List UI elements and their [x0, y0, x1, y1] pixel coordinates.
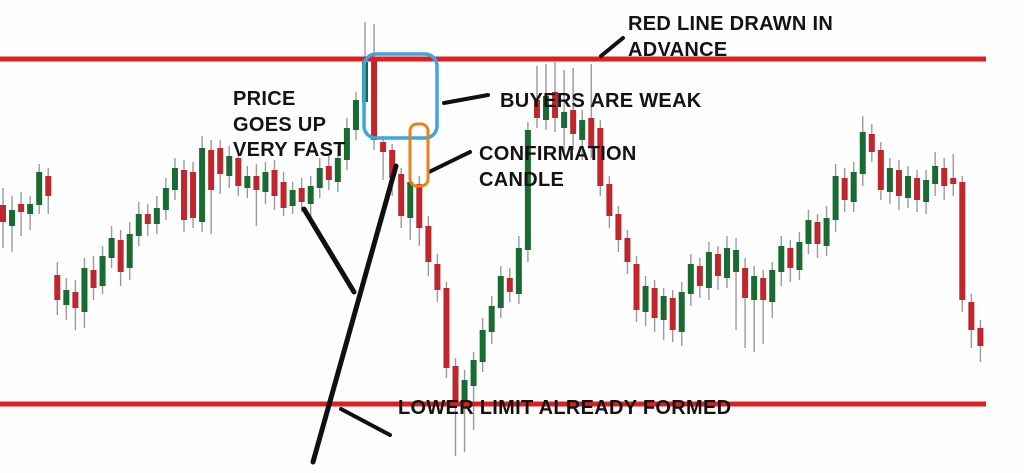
candle-body	[100, 256, 106, 286]
candle-body	[896, 170, 902, 196]
candle-body	[136, 214, 142, 236]
candle-body	[615, 214, 621, 240]
candle-body	[751, 276, 757, 300]
candle-body	[905, 176, 911, 198]
candle-body	[118, 240, 124, 272]
candle-body	[688, 264, 694, 294]
candle-body	[81, 268, 87, 312]
candle-body	[724, 248, 730, 278]
candle-body	[299, 188, 305, 202]
candle-body	[480, 330, 486, 362]
candle-body	[706, 252, 712, 288]
candle-body	[163, 188, 169, 210]
candle-body	[697, 266, 703, 286]
candle-body	[172, 168, 178, 190]
candle-body	[932, 166, 938, 184]
candle-body	[317, 168, 323, 188]
annotation-buyers-are-weak: BUYERS ARE WEAK	[500, 89, 702, 115]
candle-body	[489, 306, 495, 332]
candle-body	[199, 148, 205, 222]
candle-body	[18, 204, 24, 212]
candle-body	[371, 58, 377, 140]
candle-body	[796, 242, 802, 270]
candle-body	[661, 296, 667, 320]
candle-body	[353, 100, 359, 130]
candle-body	[842, 178, 848, 200]
candle-body	[181, 170, 187, 220]
annotation-red-line-drawn-in-advance: RED LINE DRAWN IN ADVANCE	[628, 12, 833, 63]
candle-body	[715, 254, 721, 276]
candle-body	[869, 134, 875, 152]
candle-body	[416, 184, 422, 228]
candle-body	[805, 220, 811, 244]
candle-body	[760, 278, 766, 300]
candle-body	[380, 142, 386, 152]
candle-body	[887, 168, 893, 192]
candle-body	[27, 204, 33, 214]
candle-body	[63, 290, 69, 305]
candle-body	[9, 210, 15, 226]
candle-body	[950, 178, 956, 184]
candle-body	[643, 286, 649, 312]
candle-body	[652, 288, 658, 318]
candle-body	[742, 268, 748, 298]
candle-body	[217, 148, 223, 174]
candle-body	[778, 246, 784, 272]
candle-body	[959, 182, 965, 300]
candle-body	[398, 174, 404, 216]
candle-body	[679, 292, 685, 332]
candle-body	[154, 208, 160, 224]
candle-body	[262, 172, 268, 192]
candle-body	[326, 166, 332, 180]
annotation-confirmation-candle: CONFIRMATION CANDLE	[479, 142, 637, 193]
candle-body	[923, 180, 929, 202]
candle-body	[860, 132, 866, 174]
candle-body	[914, 178, 920, 200]
candle-body	[833, 176, 839, 220]
candle-body	[272, 170, 278, 196]
candle-body	[443, 288, 449, 368]
candle-body	[769, 270, 775, 302]
candle-body	[253, 176, 259, 190]
candle-body	[507, 278, 513, 292]
candle-body	[190, 172, 196, 218]
candle-body	[824, 218, 830, 246]
candle-body	[208, 150, 214, 190]
candle-body	[968, 302, 974, 330]
candle-body	[425, 226, 431, 262]
candle-body	[579, 120, 585, 140]
candle-body	[498, 276, 504, 308]
candle-body	[45, 176, 51, 196]
candle-body	[72, 292, 78, 308]
candle-body	[851, 172, 857, 202]
candle-body	[516, 248, 522, 294]
candle-body	[670, 298, 676, 330]
candle-body	[977, 328, 983, 346]
candle-body	[54, 275, 60, 300]
candle-body	[407, 182, 413, 218]
candle-body	[145, 214, 151, 224]
candle-body	[290, 190, 296, 206]
candle-body	[941, 168, 947, 186]
candle-body	[109, 238, 115, 258]
annotation-lower-limit-already-formed: LOWER LIMIT ALREADY FORMED	[398, 396, 731, 422]
candle-body	[624, 238, 630, 262]
candle-body	[226, 156, 232, 176]
candle-body	[308, 186, 314, 204]
candle-body	[91, 270, 97, 288]
candle-body	[36, 172, 42, 205]
candle-body	[127, 234, 133, 268]
candle-body	[733, 250, 739, 272]
candle-body	[471, 360, 477, 386]
candle-body	[0, 205, 6, 222]
candle-body	[815, 222, 821, 244]
annotation-price-goes-up-very-fast: PRICE GOES UP VERY FAST	[233, 87, 346, 164]
candle-body	[878, 150, 884, 190]
candle-body	[787, 248, 793, 268]
candle-body	[634, 264, 640, 310]
candle-body	[434, 264, 440, 290]
candle-body	[281, 182, 287, 208]
candlestick-chart-screenshot: RED LINE DRAWN IN ADVANCE PRICE GOES UP …	[0, 0, 1024, 473]
candle-body	[244, 176, 250, 188]
